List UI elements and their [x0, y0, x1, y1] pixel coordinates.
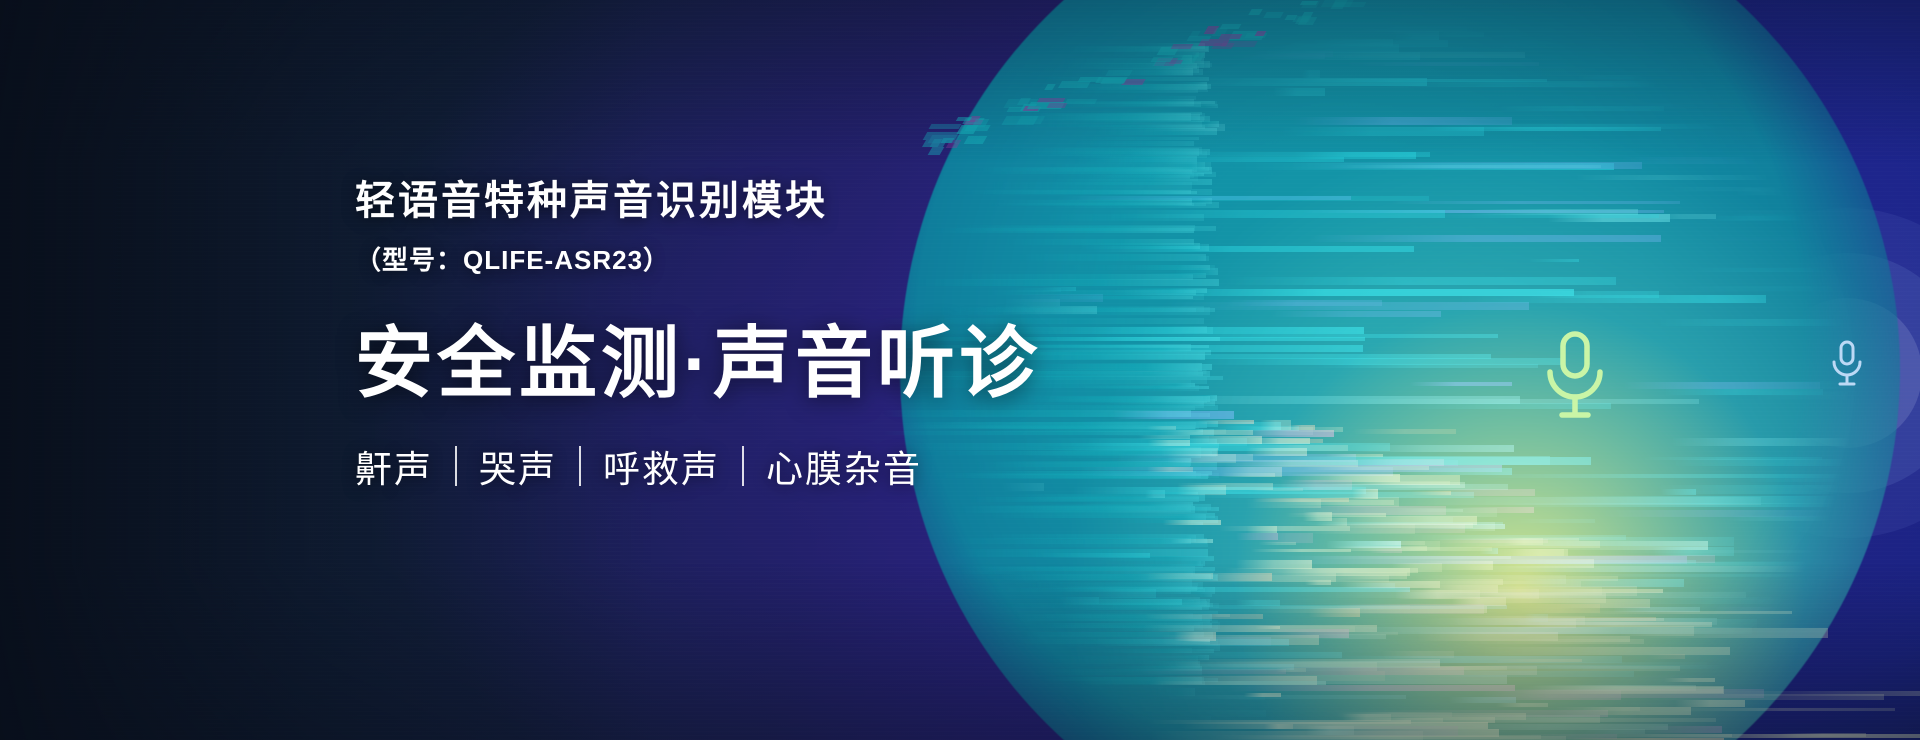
- glitch-dashes-top: [920, 0, 1340, 150]
- microphone-icon-primary: [1534, 330, 1616, 422]
- halo-ring-mid-secondary: [1727, 253, 1920, 493]
- banner-copy: 轻语音特种声音识别模块 （型号：QLIFE-ASR23） 安全监测·声音听诊 鼾…: [355, 178, 1255, 493]
- tagline-item: 鼾声: [355, 439, 433, 493]
- halo-ring-inner-secondary: [1772, 298, 1920, 448]
- halo-ring-mid-primary: [1360, 160, 1790, 590]
- halo-ring-outer-secondary: [1682, 208, 1920, 538]
- page-title: 安全监测·声音听诊: [355, 321, 1255, 407]
- tagline-item: 哭声: [479, 439, 557, 493]
- tagline-item: 呼救声: [603, 439, 720, 493]
- tagline-separator: [455, 446, 457, 486]
- halo-ring-inner-primary: [1425, 225, 1725, 525]
- tagline-item: 心膜杂音: [766, 439, 922, 493]
- hero-banner: 轻语音特种声音识别模块 （型号：QLIFE-ASR23） 安全监测·声音听诊 鼾…: [0, 0, 1920, 740]
- tagline-list: 鼾声哭声呼救声心膜杂音: [355, 439, 1255, 493]
- product-model: （型号：QLIFE-ASR23）: [355, 240, 1255, 277]
- microphone-icon-secondary: [1826, 340, 1868, 388]
- tagline-separator: [742, 446, 744, 486]
- tagline-separator: [579, 446, 581, 486]
- halo-ring-outer-primary: [1295, 95, 1855, 655]
- product-title: 轻语音特种声音识别模块: [355, 178, 1255, 224]
